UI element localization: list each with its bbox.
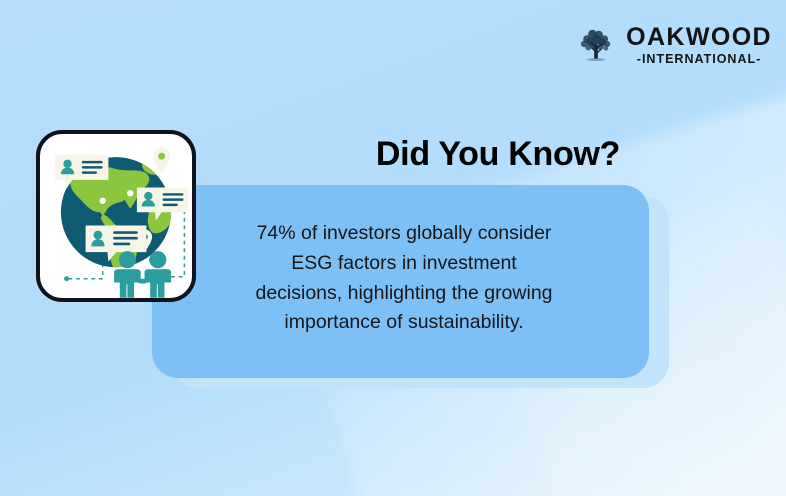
brand-name: OAKWOOD: [626, 24, 772, 50]
globe-network-people-icon: [36, 130, 196, 302]
body-line: decisions, highlighting the growing: [194, 279, 614, 309]
brand-logo[interactable]: OAKWOOD -INTERNATIONAL-: [575, 24, 772, 67]
oak-tree-icon: [575, 25, 617, 67]
body-line: importance of sustainability.: [194, 308, 614, 338]
body-line: ESG factors in investment: [194, 249, 614, 279]
poster-canvas: OAKWOOD -INTERNATIONAL-: [0, 0, 786, 496]
brand-subtitle: -INTERNATIONAL-: [637, 52, 761, 67]
brand-logo-text: OAKWOOD -INTERNATIONAL-: [626, 24, 772, 67]
body-line: 74% of investors globally consider: [194, 219, 614, 249]
page-title: Did You Know?: [288, 136, 708, 173]
body-copy: 74% of investors globally consider ESG f…: [194, 219, 614, 338]
